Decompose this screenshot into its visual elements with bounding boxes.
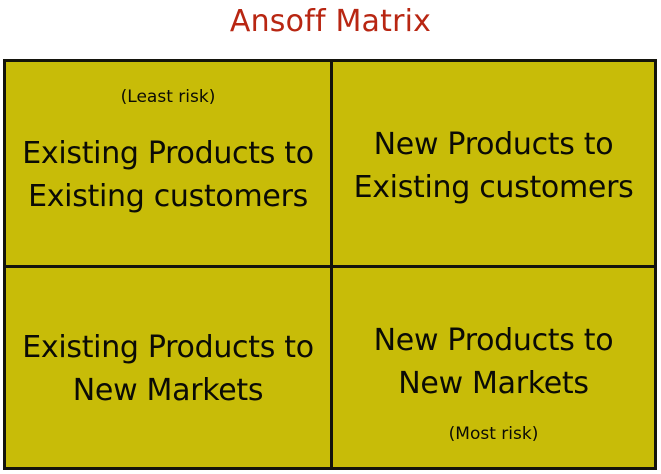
quadrant-product-development[interactable]: New Products toExisting customers: [330, 62, 654, 265]
least-risk-label: (Least risk): [6, 86, 330, 108]
quadrant-label-top-left: Existing Products toExisting customers: [18, 132, 318, 218]
quadrant-label-line2: New Markets: [398, 366, 588, 401]
quadrant-label-line1: New Products to: [374, 323, 614, 358]
quadrant-label-line2: Existing customers: [28, 179, 308, 214]
page-title: Ansoff Matrix: [0, 2, 661, 42]
ansoff-matrix: (Least risk) Existing Products toExistin…: [3, 59, 657, 470]
quadrant-market-development[interactable]: Existing Products toNew Markets: [6, 265, 330, 468]
quadrant-market-penetration[interactable]: (Least risk) Existing Products toExistin…: [6, 62, 330, 265]
quadrant-label-line1: Existing Products to: [22, 330, 314, 365]
quadrant-label-line2: Existing customers: [354, 170, 634, 205]
quadrant-label-bottom-right: New Products toNew Markets: [370, 319, 618, 405]
quadrant-label-top-right: New Products toExisting customers: [350, 123, 638, 209]
quadrant-label-line2: New Markets: [73, 373, 263, 408]
quadrant-label-bottom-left: Existing Products toNew Markets: [18, 326, 318, 412]
most-risk-label: (Most risk): [333, 423, 654, 445]
quadrant-label-line1: Existing Products to: [22, 136, 314, 171]
quadrant-label-line1: New Products to: [374, 127, 614, 162]
quadrant-diversification[interactable]: New Products toNew Markets (Most risk): [330, 265, 654, 468]
